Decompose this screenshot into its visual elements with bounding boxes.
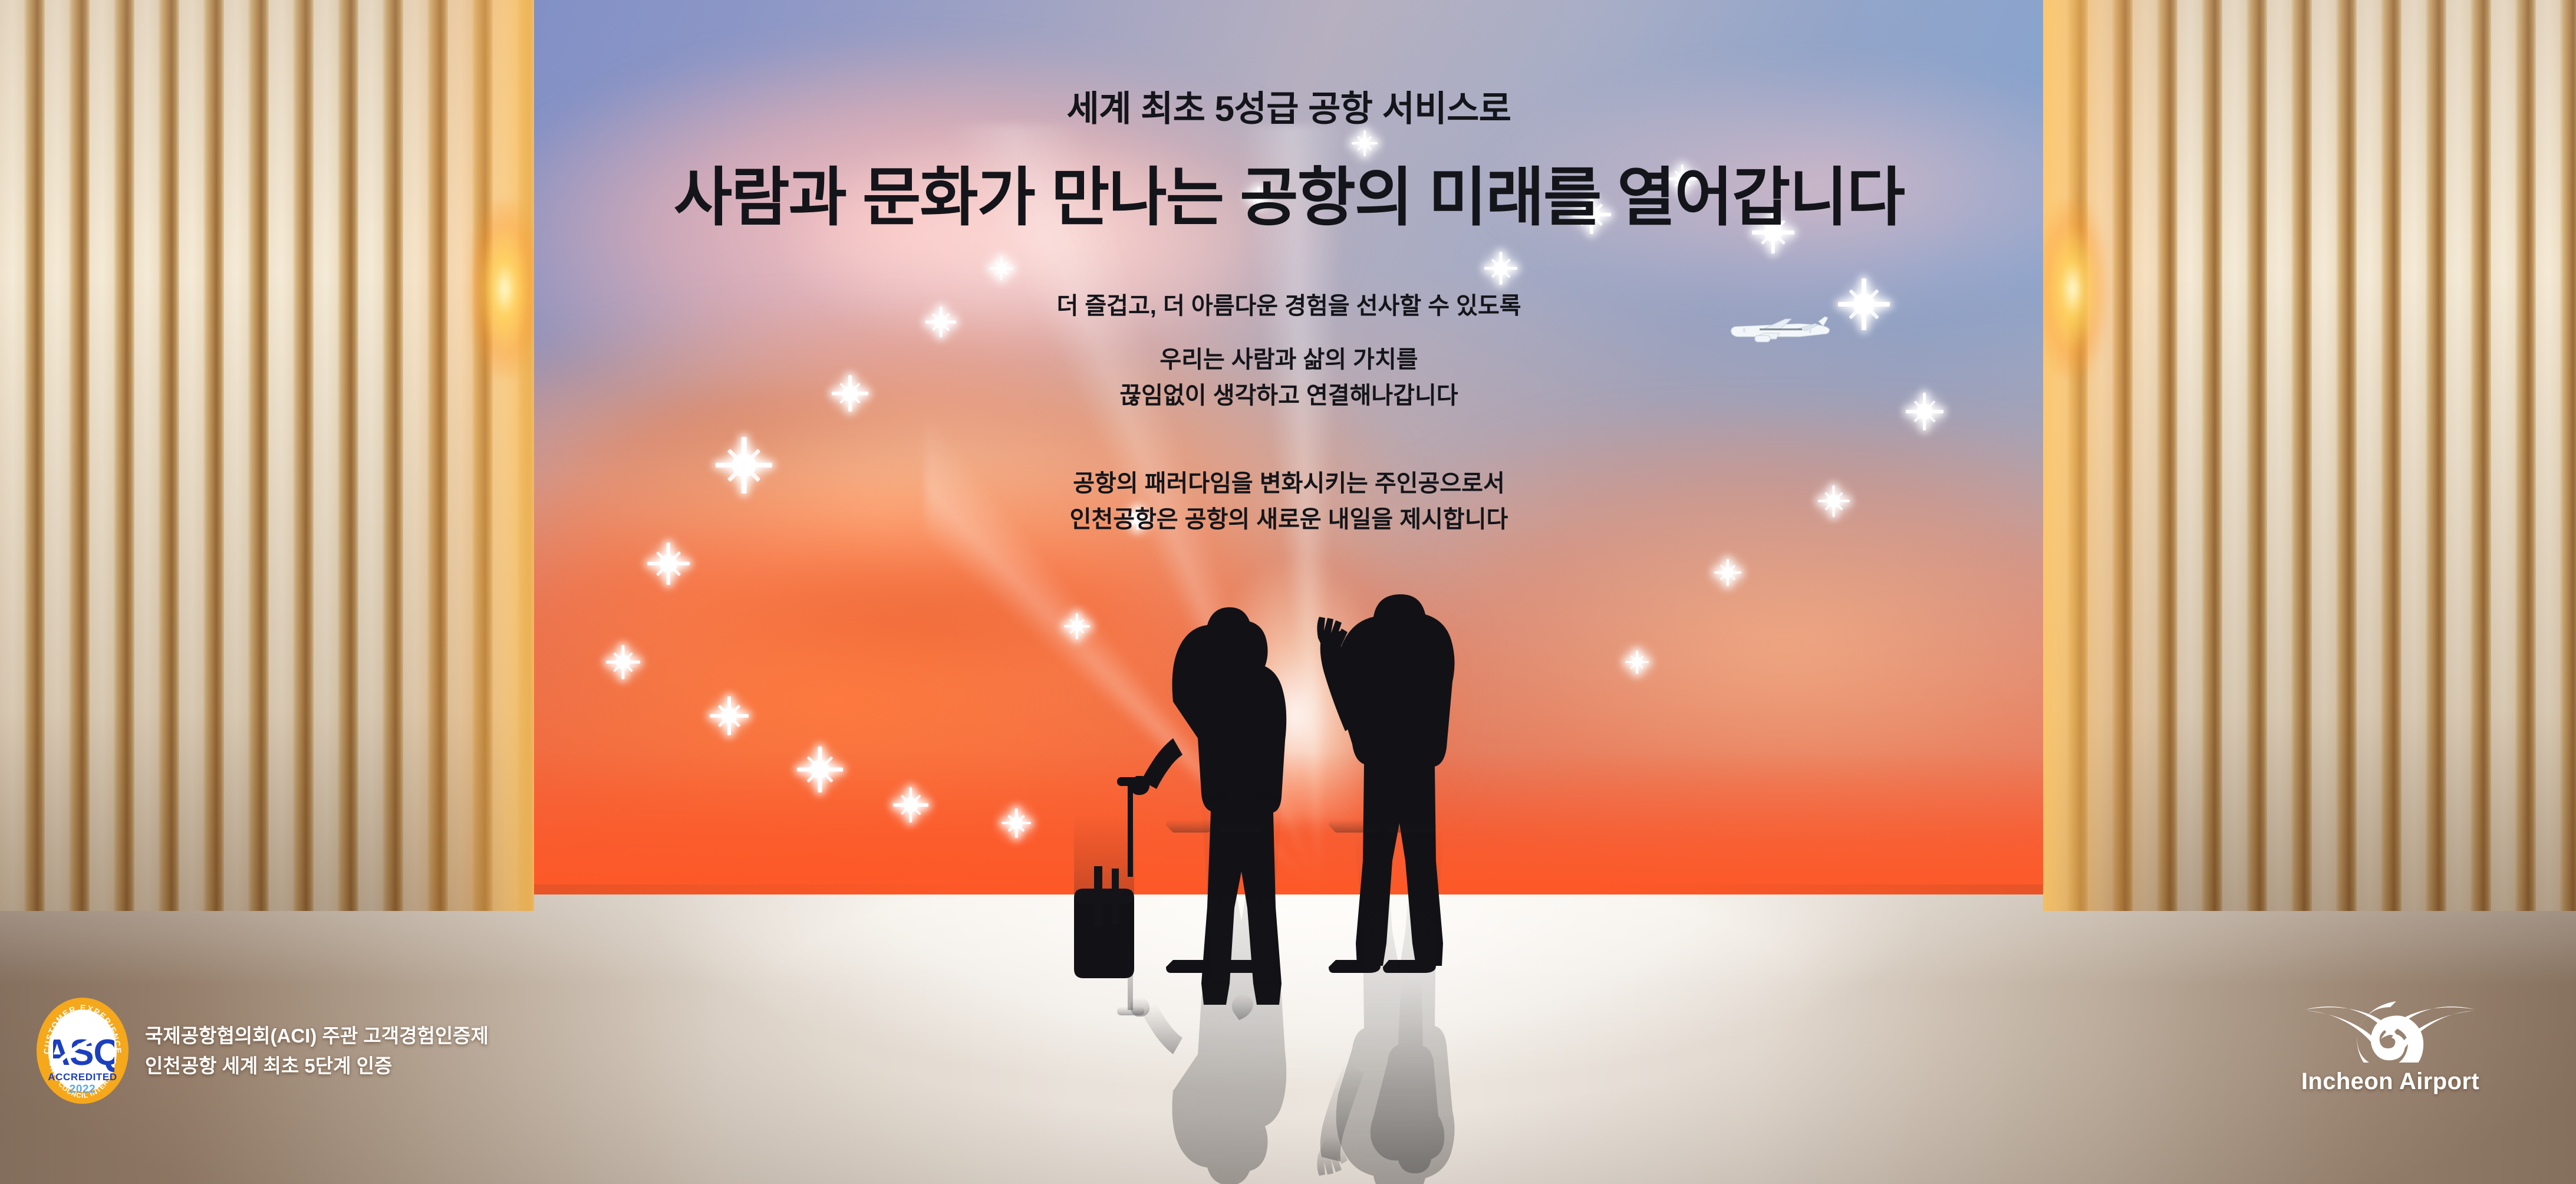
paragraph-two: 공항의 패러다임을 변화시키는 주인공으로서 인천공항은 공항의 새로운 내일을…: [532, 466, 2045, 538]
accreditation-caption-line-2: 인천공항 세계 최초 5단계 인증: [145, 1051, 489, 1081]
accreditation-block: CUSTOMER EXPERIENCE AIRPORTS COUNCIL INT…: [35, 996, 489, 1105]
incheon-airport-logo: Incheon Airport: [2293, 996, 2488, 1095]
incheon-airport-banner: 세계 최초 5성급 공항 서비스로 사람과 문화가 만나는 공항의 미래를 열어…: [0, 0, 2576, 1184]
paragraph-two-line-2: 인천공항은 공항의 새로운 내일을 제시합니다: [532, 502, 2045, 538]
accreditation-caption: 국제공항협의회(ACI) 주관 고객경험인증제 인천공항 세계 최초 5단계 인…: [145, 1021, 489, 1081]
wood-slat-wall-left: [0, 0, 534, 911]
paragraph-one-line-1: 우리는 사람과 삶의 가치를: [532, 342, 2045, 378]
subline-text: 더 즐겁고, 더 아름다운 경험을 선사할 수 있도록: [532, 287, 2045, 321]
sunlight-glow-right: [2043, 0, 2190, 911]
page-title: 사람과 문화가 만나는 공항의 미래를 열어갑니다: [532, 146, 2045, 238]
sunlight-glow-left: [387, 0, 534, 911]
paragraph-one-line-2: 끊임없이 생각하고 연결해나갑니다: [532, 378, 2045, 414]
paragraph-one: 우리는 사람과 삶의 가치를 끊임없이 생각하고 연결해나갑니다: [532, 342, 2045, 414]
asq-accreditation-badge-icon: CUSTOMER EXPERIENCE AIRPORTS COUNCIL INT…: [35, 996, 130, 1105]
badge-status: ACCREDITED: [48, 1071, 117, 1083]
wood-slat-wall-right: [2043, 0, 2576, 911]
badge-year: 2022: [70, 1083, 96, 1096]
lens-flare-right: [2043, 200, 2108, 377]
eyebrow-text: 세계 최초 5성급 공항 서비스로: [532, 80, 2045, 131]
logo-wordmark: Incheon Airport: [2293, 1068, 2488, 1095]
wing-swirl-icon: [2302, 996, 2479, 1063]
banner-copy: 세계 최초 5성급 공항 서비스로 사람과 문화가 만나는 공항의 미래를 열어…: [532, 0, 2045, 894]
lens-flare-left: [469, 200, 534, 377]
accreditation-caption-line-1: 국제공항협의회(ACI) 주관 고객경험인증제: [145, 1021, 489, 1051]
paragraph-two-line-1: 공항의 패러다임을 변화시키는 주인공으로서: [532, 466, 2045, 502]
